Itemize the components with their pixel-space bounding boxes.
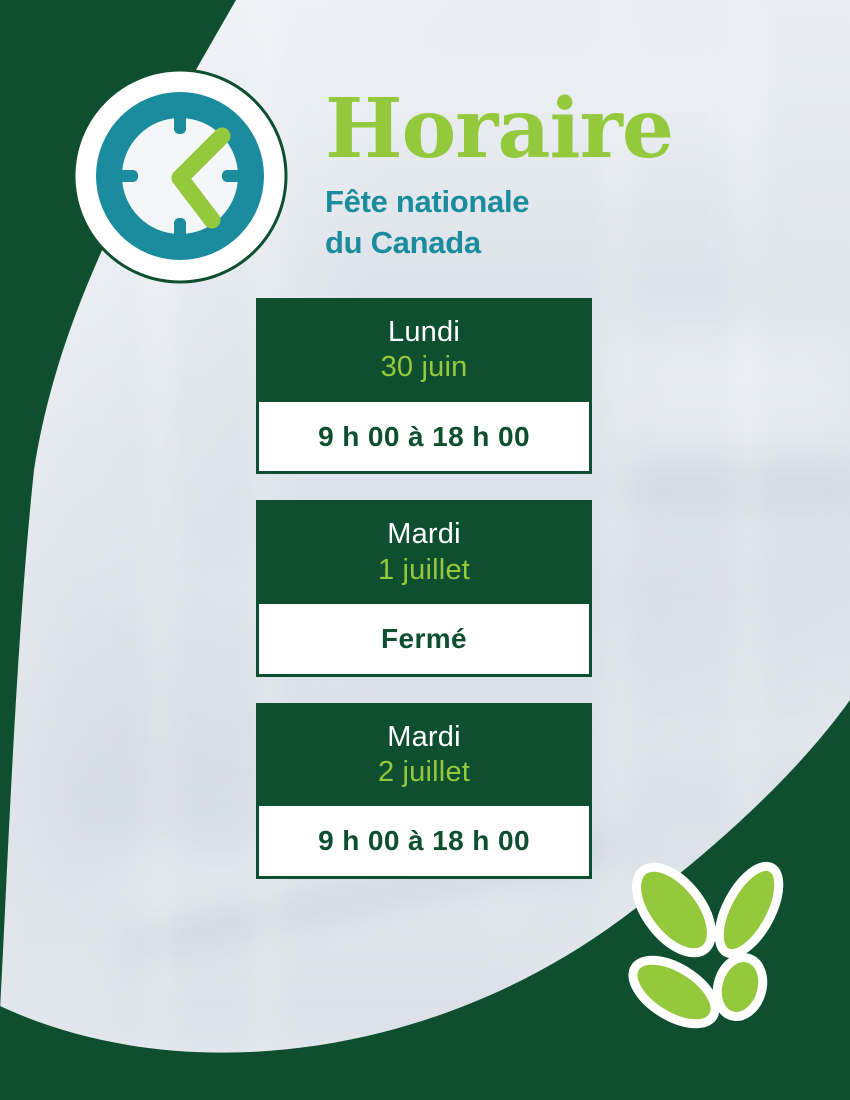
schedule-card: Mardi 1 juillet Fermé (256, 500, 592, 676)
schedule-date: 2 juillet (266, 755, 582, 790)
page-title: Horaire (325, 88, 745, 170)
page-subtitle: Fête nationale du Canada (325, 182, 745, 264)
schedule-hours: Fermé (269, 622, 579, 656)
logo-petal (622, 947, 725, 1036)
schedule-card-header: Lundi 30 juin (256, 298, 592, 402)
subtitle-line-2: du Canada (325, 223, 745, 264)
schedule-card-header: Mardi 1 juillet (256, 500, 592, 604)
schedule-day: Mardi (266, 720, 582, 755)
butterfly-logo-icon (612, 852, 812, 1052)
clock-icon (72, 68, 288, 284)
logo-petal (711, 952, 770, 1022)
schedule-card: Lundi 30 juin 9 h 00 à 18 h 00 (256, 298, 592, 474)
schedule-card-body: 9 h 00 à 18 h 00 (256, 806, 592, 879)
schedule-day: Mardi (266, 517, 582, 552)
schedule-date: 1 juillet (266, 553, 582, 588)
logo-petal (707, 857, 791, 962)
schedule-card-body: 9 h 00 à 18 h 00 (256, 402, 592, 475)
schedule-hours: 9 h 00 à 18 h 00 (269, 824, 579, 858)
schedule-hours: 9 h 00 à 18 h 00 (269, 420, 579, 454)
poster-canvas: Horaire Fête nationale du Canada Lundi 3… (0, 0, 850, 1100)
logo-petal (622, 854, 726, 966)
subtitle-line-1: Fête nationale (325, 182, 745, 223)
schedule-card: Mardi 2 juillet 9 h 00 à 18 h 00 (256, 703, 592, 879)
schedule-card-header: Mardi 2 juillet (256, 703, 592, 807)
schedule-card-list: Lundi 30 juin 9 h 00 à 18 h 00 Mardi 1 j… (256, 298, 592, 905)
header-text-block: Horaire Fête nationale du Canada (325, 88, 745, 264)
schedule-card-body: Fermé (256, 604, 592, 677)
schedule-date: 30 juin (266, 350, 582, 385)
schedule-day: Lundi (266, 315, 582, 350)
